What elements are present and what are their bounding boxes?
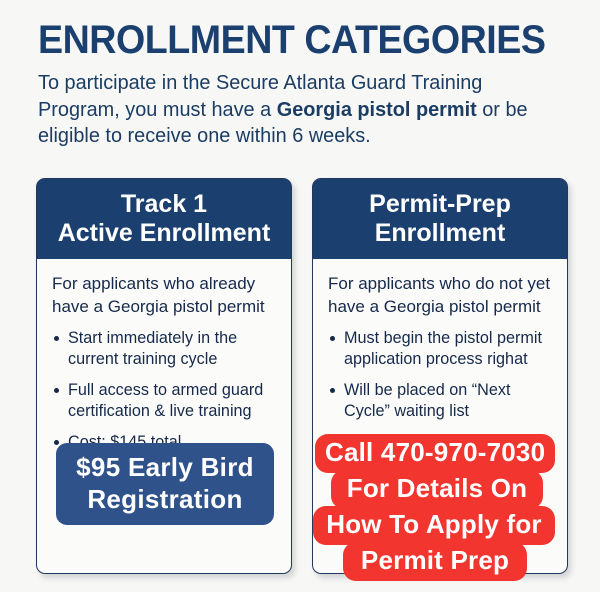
header-subtitle: To participate in the Secure Atlanta Gua…: [38, 70, 570, 150]
card-bullet-list: Must begin the pistol permit application…: [328, 328, 552, 422]
call-cta-line2[interactable]: For Details On: [331, 470, 543, 509]
list-item: Will be placed on “Next Cycle” waiting l…: [328, 380, 552, 422]
flyer-canvas: ENROLLMENT CATEGORIES To participate in …: [0, 0, 600, 592]
header-subtitle-emphasis: Georgia pistol permit: [277, 98, 477, 121]
list-item: Full access to armed guard certification…: [52, 380, 276, 422]
card-title-line2: Active Enrollment: [58, 219, 271, 248]
list-item: Start immediately in the current trainin…: [52, 328, 276, 370]
call-cta-line3[interactable]: How To Apply for: [313, 506, 555, 545]
call-cta-line4[interactable]: Permit Prep: [343, 542, 527, 581]
list-item: Must begin the pistol permit application…: [328, 328, 552, 370]
card-header-track1: Track 1 Active Enrollment: [37, 179, 291, 259]
card-body-permit-prep: For applicants who do not yet have a Geo…: [313, 259, 567, 422]
early-bird-line1: $95 Early Bird: [62, 451, 268, 483]
card-bullet-list: Start immediately in the current trainin…: [52, 328, 276, 453]
card-title-line1: Permit-Prep: [369, 190, 511, 219]
card-header-permit-prep: Permit-Prep Enrollment: [313, 179, 567, 259]
header-block: ENROLLMENT CATEGORIES To participate in …: [38, 18, 568, 150]
card-title-line1: Track 1: [121, 190, 207, 219]
card-body-track1: For applicants who already have a Georgi…: [37, 259, 291, 453]
call-cta-phone-number[interactable]: Call 470-970-7030: [315, 434, 555, 473]
card-title-line2: Enrollment: [375, 219, 506, 248]
early-bird-line2: Registration: [62, 483, 268, 515]
card-intro-text: For applicants who do not yet have a Geo…: [328, 273, 552, 318]
card-intro-text: For applicants who already have a Georgi…: [52, 273, 276, 318]
page-title: ENROLLMENT CATEGORIES: [38, 18, 536, 62]
early-bird-registration-badge[interactable]: $95 Early Bird Registration: [56, 443, 274, 525]
